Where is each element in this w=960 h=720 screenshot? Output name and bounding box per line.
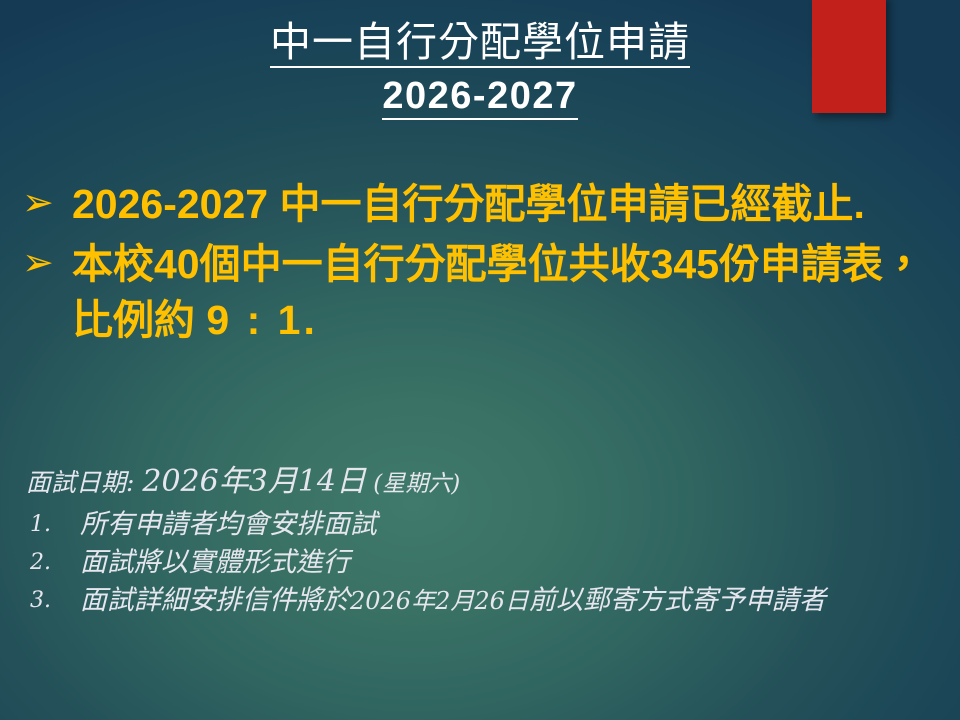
note-number: 1.	[26, 506, 80, 544]
list-item: 1. 所有申請者均會安排面試	[26, 506, 946, 544]
arrow-bullet-icon: ➢	[14, 236, 72, 290]
interview-notes-block: 面試日期: 2026年3月14日 (星期六) 1. 所有申請者均會安排面試 2.…	[26, 462, 946, 620]
note-text-letter-mailing: 面試詳細安排信件將於2026年2月26日前以郵寄方式寄予申請者	[80, 582, 946, 620]
list-item: ➢ 2026-2027 中一自行分配學位申請已經截止.	[14, 176, 948, 232]
interview-date-heading: 面試日期: 2026年3月14日 (星期六)	[26, 462, 946, 504]
note-letter-date: 2026年2月26日	[350, 587, 529, 615]
slide-title-block: 中一自行分配學位申請 2026-2027	[0, 22, 960, 120]
page-title: 中一自行分配學位申請	[270, 22, 690, 68]
title-line-1-wrap: 中一自行分配學位申請	[0, 22, 960, 68]
interview-weekday: (星期六)	[366, 471, 460, 497]
arrow-bullet-icon: ➢	[14, 176, 72, 230]
note-text-interview-format: 面試將以實體形式進行	[80, 544, 946, 582]
list-item: 2. 面試將以實體形式進行	[26, 544, 946, 582]
bullet-text-deadline: 2026-2027 中一自行分配學位申請已經截止.	[72, 176, 948, 232]
key-points-list: ➢ 2026-2027 中一自行分配學位申請已經截止. ➢ 本校40個中一自行分…	[14, 176, 948, 352]
note-text-all-applicants: 所有申請者均會安排面試	[80, 506, 946, 544]
note-number: 3.	[26, 582, 80, 620]
bullet-text-statistics: 本校40個中一自行分配學位共收345份申請表，比例約 9 : 1.	[72, 236, 948, 348]
interview-date-label: 面試日期:	[26, 468, 142, 497]
note-number: 2.	[26, 544, 80, 582]
page-subtitle-year: 2026-2027	[382, 77, 577, 120]
list-item: 3. 面試詳細安排信件將於2026年2月26日前以郵寄方式寄予申請者	[26, 582, 946, 620]
title-line-2-wrap: 2026-2027	[0, 77, 960, 120]
interview-date-value: 2026年3月14日	[142, 464, 366, 499]
note-letter-before: 面試詳細安排信件將於	[80, 585, 350, 616]
note-letter-after: 前以郵寄方式寄予申請者	[529, 585, 826, 616]
list-item: ➢ 本校40個中一自行分配學位共收345份申請表，比例約 9 : 1.	[14, 236, 948, 348]
bullet-statistics-main: 本校40個中一自行分配學位共收345份申請表，比例約	[72, 241, 924, 343]
presentation-slide: 中一自行分配學位申請 2026-2027 ➢ 2026-2027 中一自行分配學…	[0, 0, 960, 720]
bullet-statistics-ratio: 9 : 1.	[206, 297, 317, 343]
